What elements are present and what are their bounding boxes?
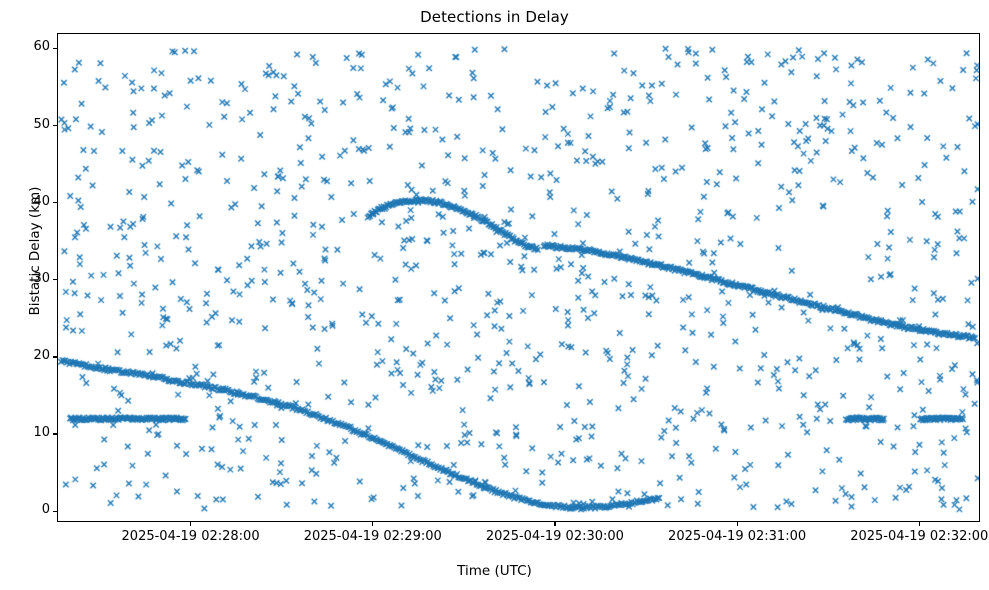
x-tick-label: 2025-04-19 02:28:00 (101, 529, 281, 544)
x-tick-mark (737, 522, 738, 526)
plot-area (57, 33, 980, 522)
x-tick-mark (919, 522, 920, 526)
x-tick-mark (372, 522, 373, 526)
x-tick-label: 2025-04-19 02:30:00 (465, 529, 645, 544)
x-tick-mark (554, 522, 555, 526)
x-tick-label: 2025-04-19 02:29:00 (283, 529, 463, 544)
scatter-plot-canvas (58, 34, 980, 522)
x-tick-mark (190, 522, 191, 526)
matplotlib-figure: Detections in Delay Bistatic Delay (km) … (0, 0, 989, 590)
x-tick-label: 2025-04-19 02:31:00 (647, 529, 827, 544)
x-axis-label: Time (UTC) (0, 563, 989, 579)
x-tick-label: 2025-04-19 02:32:00 (829, 529, 989, 544)
